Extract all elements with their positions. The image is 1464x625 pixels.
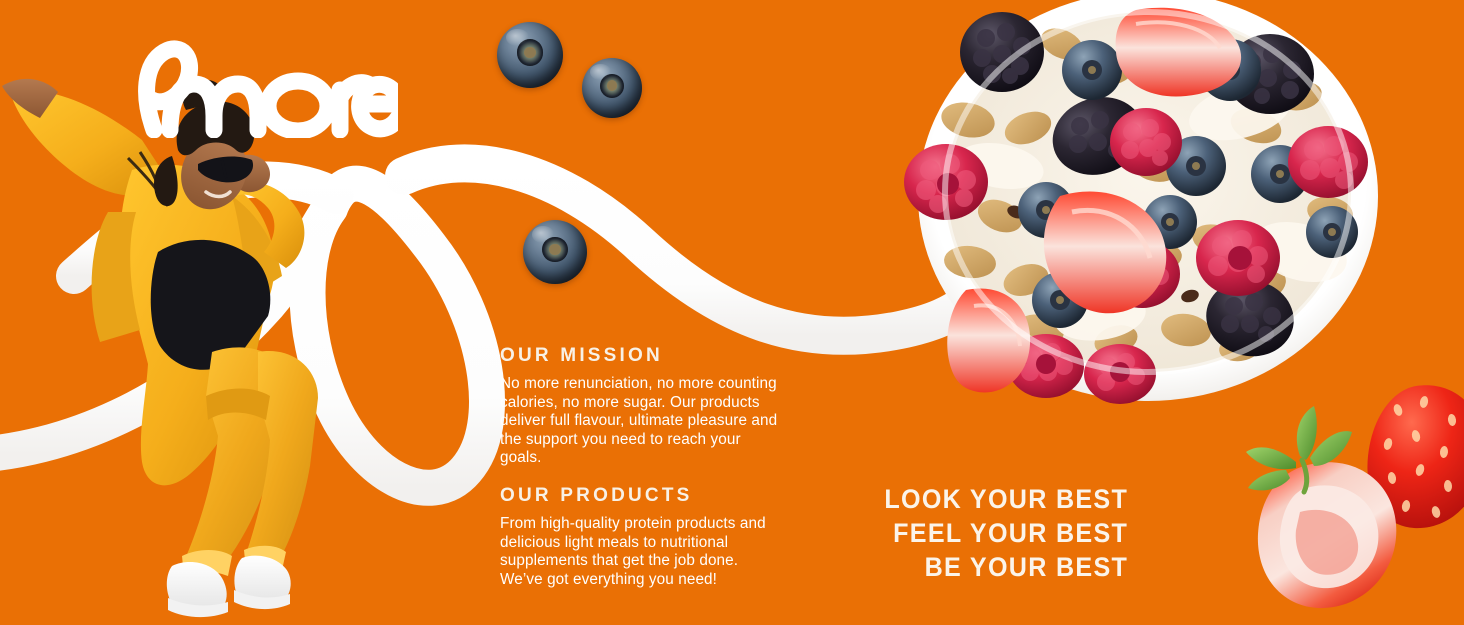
tagline-line-2: FEEL YOUR BEST bbox=[884, 516, 1128, 550]
products-heading: OUR PRODUCTS bbox=[500, 485, 785, 507]
mission-block: OUR MISSION No more renunciation, no mor… bbox=[500, 345, 785, 468]
tagline-block: LOOK YOUR BEST FEEL YOUR BEST BE YOUR BE… bbox=[866, 482, 1128, 584]
products-body: From high-quality protein products and d… bbox=[500, 515, 785, 589]
more-logo[interactable]: More bbox=[108, 34, 398, 138]
mission-heading: OUR MISSION bbox=[500, 345, 785, 367]
mission-body: No more renunciation, no more counting c… bbox=[500, 375, 785, 468]
tagline-line-1: LOOK YOUR BEST bbox=[884, 482, 1128, 516]
copy-column: OUR MISSION No more renunciation, no mor… bbox=[500, 345, 785, 589]
tagline-line-3: BE YOUR BEST bbox=[884, 550, 1128, 584]
brand-banner: More OUR MISSION No more renunciation, n… bbox=[0, 0, 1464, 625]
products-block: OUR PRODUCTS From high-quality protein p… bbox=[500, 485, 785, 589]
